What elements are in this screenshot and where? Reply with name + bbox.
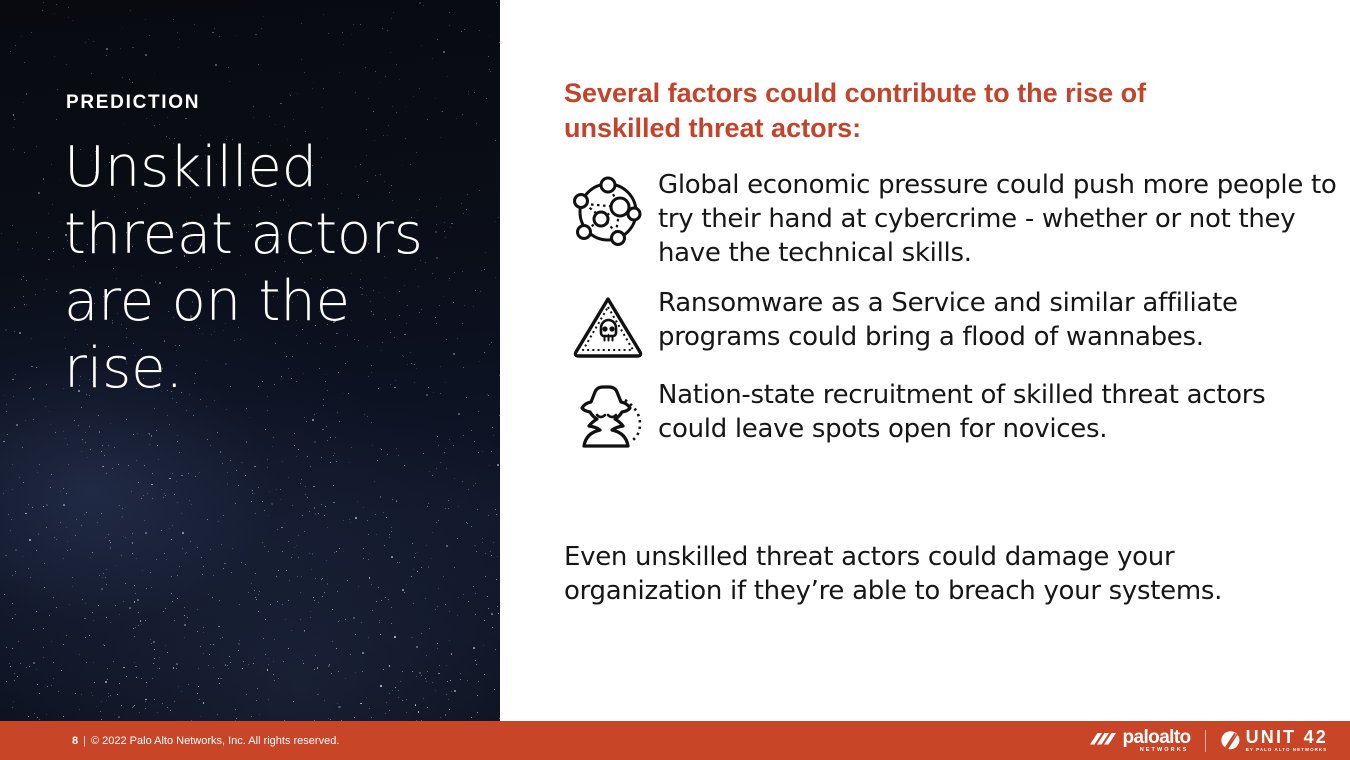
page-title: Unskilled threat actors are on the rise.: [64, 134, 464, 402]
copyright-text: © 2022 Palo Alto Networks, Inc. All righ…: [91, 735, 339, 747]
network-nodes-icon: [558, 168, 658, 248]
unit42-wordmark: UNIT 42: [1246, 728, 1328, 746]
closing-paragraph: Even unskilled threat actors could damag…: [564, 540, 1264, 608]
paloalto-logo: paloalto NETWORKS: [1090, 728, 1191, 754]
list-item: Ransomware as a Service and similar affi…: [558, 286, 1338, 362]
list-item-text: Nation-state recruitment of skilled thre…: [658, 378, 1338, 446]
section-subheading: Several factors could contribute to the …: [564, 76, 1264, 146]
left-title-panel: PREDICTION Unskilled threat actors are o…: [0, 0, 500, 721]
points-list: Global economic pressure could push more…: [558, 168, 1338, 466]
paloalto-mark-icon: [1090, 731, 1116, 750]
unit42-subtext: BY PALO ALTO NETWORKS: [1246, 748, 1328, 752]
list-item: Nation-state recruitment of skilled thre…: [558, 378, 1338, 450]
logo-divider: [1205, 730, 1206, 752]
footer-bar: 8 | © 2022 Palo Alto Networks, Inc. All …: [0, 721, 1350, 760]
right-content-panel: Several factors could contribute to the …: [500, 0, 1350, 721]
warning-skull-icon: [558, 286, 658, 362]
unit42-mark-icon: [1220, 730, 1241, 751]
paloalto-wordmark: paloalto: [1123, 728, 1191, 747]
footer-logos: paloalto NETWORKS UNIT 42 BY PALO ALTO N…: [1090, 728, 1328, 754]
list-item-text: Ransomware as a Service and similar affi…: [658, 286, 1338, 354]
paloalto-subtext: NETWORKS: [1140, 748, 1189, 754]
unit42-logo: UNIT 42 BY PALO ALTO NETWORKS: [1220, 728, 1328, 752]
slide: PREDICTION Unskilled threat actors are o…: [0, 0, 1350, 760]
list-item-text: Global economic pressure could push more…: [658, 168, 1338, 270]
footer-copyright: 8 | © 2022 Palo Alto Networks, Inc. All …: [72, 735, 339, 747]
page-number: 8: [72, 735, 78, 747]
eyebrow-label: PREDICTION: [66, 92, 200, 114]
footer-separator: |: [83, 735, 86, 747]
list-item: Global economic pressure could push more…: [558, 168, 1338, 270]
spy-hacker-icon: [558, 378, 658, 450]
